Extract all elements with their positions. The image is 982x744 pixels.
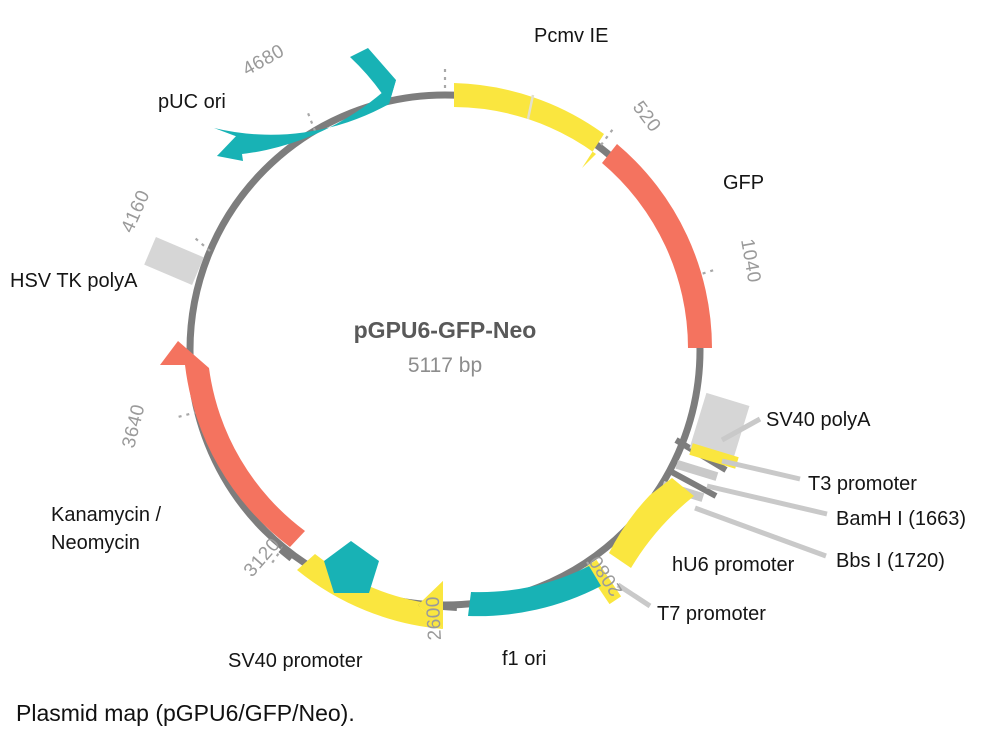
feature-labels-group: Pcmv IE GFP SV40 polyA T3 promoter BamH … xyxy=(10,25,966,672)
label-t7-promoter: T7 promoter xyxy=(657,603,766,625)
label-kanamycin-neomycin-line1: Kanamycin / xyxy=(51,504,161,526)
feature-marker-pentagon[interactable] xyxy=(324,541,379,593)
tick-mark-520 xyxy=(601,129,613,145)
label-hsv-tk-polya: HSV TK polyA xyxy=(10,270,138,292)
tick-label-4160: 4160 xyxy=(117,187,154,236)
feature-kanamycin-neomycin[interactable] xyxy=(160,341,305,547)
label-bbsi: Bbs I (1720) xyxy=(836,550,945,572)
tick-mark-3640 xyxy=(178,412,197,417)
feature-gfp[interactable] xyxy=(602,144,712,348)
label-f1-ori: f1 ori xyxy=(502,648,546,670)
tick-label-4680: 4680 xyxy=(239,41,288,81)
label-gfp: GFP xyxy=(723,172,764,194)
feature-pcmv-ie[interactable] xyxy=(454,83,604,168)
label-t3-promoter: T3 promoter xyxy=(808,473,917,495)
label-hu6-promoter: hU6 promoter xyxy=(672,554,795,576)
label-bamhi: BamH I (1663) xyxy=(836,508,966,530)
plasmid-diagram: Pcmv IE GFP SV40 polyA T3 promoter BamH … xyxy=(0,0,982,744)
label-sv40-promoter: SV40 promoter xyxy=(228,650,363,672)
label-kanamycin-neomycin-line2: Neomycin xyxy=(51,532,140,554)
leader-line-bbsi xyxy=(695,508,826,556)
tick-mark-4680 xyxy=(308,113,315,131)
label-pcmv-ie: Pcmv IE xyxy=(534,25,608,47)
tick-label-520: 520 xyxy=(628,97,665,136)
tick-label-1040: 1040 xyxy=(736,237,764,284)
tick-mark-4160 xyxy=(195,238,210,251)
plasmid-map-figure: Pcmv IE GFP SV40 polyA T3 promoter BamH … xyxy=(0,0,982,744)
tick-label-2600: 2600 xyxy=(423,596,446,641)
feature-f1-ori[interactable] xyxy=(468,566,601,616)
tick-label-3640: 3640 xyxy=(118,402,149,450)
backbone-connector-f1-sv40 xyxy=(443,606,457,607)
plasmid-size: 5117 bp xyxy=(408,354,482,377)
label-sv40-polya: SV40 polyA xyxy=(766,409,871,431)
feature-hsv-tk-polya[interactable] xyxy=(144,237,204,285)
plasmid-title: pGPU6-GFP-Neo xyxy=(354,317,537,343)
leader-line-t3-promoter xyxy=(722,461,800,479)
label-puc-ori: pUC ori xyxy=(158,91,226,113)
figure-caption: Plasmid map (pGPU6/GFP/Neo). xyxy=(16,700,355,727)
center-title-group: pGPU6-GFP-Neo 5117 bp xyxy=(354,317,537,377)
